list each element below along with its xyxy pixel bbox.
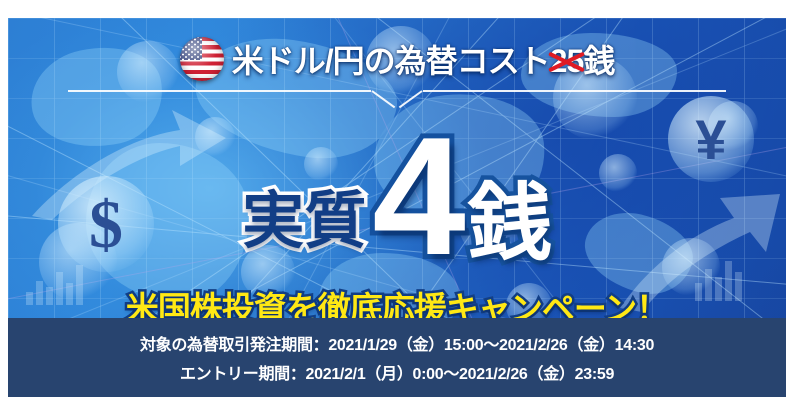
period-line-entry: エントリー期間：2021/2/1（月）0:00〜2021/2/26（金）23:5… xyxy=(180,360,614,384)
top-headline-text: 米ドル/円の為替コスト25銭 xyxy=(232,36,615,82)
campaign-banner[interactable]: $ ¥ 米ドル/円の為替コスト25銭 実質 4 銭 米国株投資を徹底応援キャンペ… xyxy=(8,18,786,397)
main-headline-unit: 銭 xyxy=(468,156,552,277)
top-unit: 銭 xyxy=(583,43,614,79)
struck-price: 25 xyxy=(550,43,584,80)
campaign-period-footer: 対象の為替取引発注期間：2021/1/29（金）15:00〜2021/2/26（… xyxy=(8,318,786,397)
us-flag-icon xyxy=(180,37,224,81)
main-headline: 実質 4 銭 xyxy=(8,128,786,273)
period-line-trading: 対象の為替取引発注期間：2021/1/29（金）15:00〜2021/2/26（… xyxy=(140,331,654,355)
main-headline-prefix: 実質 xyxy=(242,170,366,260)
main-headline-value: 4 xyxy=(372,128,465,266)
cost-label: 米ドル/円の為替コスト xyxy=(232,43,550,79)
top-headline: 米ドル/円の為替コスト25銭 xyxy=(8,34,786,84)
